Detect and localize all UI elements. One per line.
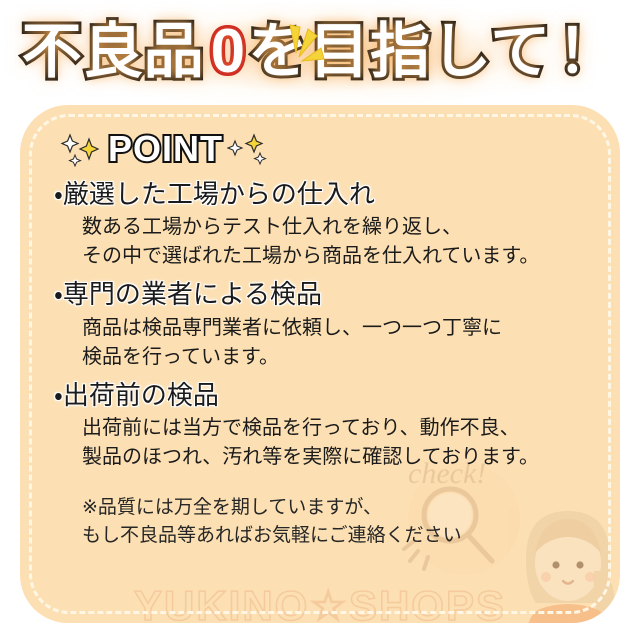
panel-content: POINT ・厳選した工場からの仕入れ 数ある工場からテスト仕入れを繰り返し、 … [20,105,620,551]
brand-watermark: YUKINO☆SHOPS [20,581,620,623]
body-line: 数ある工場からテスト仕入れを繰り返し、 [82,213,594,242]
body-line: 出荷前には当方で検品を行っており、動作不良、 [82,414,594,443]
sparkle-right-icon [227,131,271,167]
title-banner: 不良品 0 を目指して ！ [0,0,640,104]
section-heading: ・厳選した工場からの仕入れ [54,177,594,211]
section-heading: ・出荷前の検品 [54,378,594,412]
body-line: その中で選ばれた工場から商品を仕入れています。 [82,242,594,271]
title-part1: 不良品 [22,22,205,82]
title-zero-digit: 0 [211,21,246,83]
section-heading: ・専門の業者による検品 [54,277,594,311]
point-label: POINT [108,131,223,167]
section-body: 出荷前には当方で検品を行っており、動作不良、 製品のほつれ、汚れ等を実際に確認し… [82,414,594,472]
footnote-line: ※品質には万全を期していますが、 [82,494,594,523]
title-exclamation: ！ [557,22,618,82]
section-preshipment-inspection: ・出荷前の検品 出荷前には当方で検品を行っており、動作不良、 製品のほつれ、汚れ… [46,378,594,472]
title-line: 不良品 0 を目指して ！ [22,21,619,83]
sparkle-left-icon [60,131,104,167]
body-line: 製品のほつれ、汚れ等を実際に確認しております。 [82,443,594,472]
title-part2: を目指して [248,22,551,82]
body-line: 検品を行っています。 [82,343,594,372]
quality-footnote: ※品質には万全を期していますが、 もし不良品等あればお気軽にご連絡ください [82,494,594,551]
footnote-line: もし不良品等あればお気軽にご連絡ください [82,522,594,551]
section-body: 商品は検品専門業者に依頼し、一つ一つ丁寧に 検品を行っています。 [82,314,594,372]
section-sourcing: ・厳選した工場からの仕入れ 数ある工場からテスト仕入れを繰り返し、 その中で選ば… [46,177,594,271]
body-line: 商品は検品専門業者に依頼し、一つ一つ丁寧に [82,314,594,343]
section-professional-inspection: ・専門の業者による検品 商品は検品専門業者に依頼し、一つ一つ丁寧に 検品を行って… [46,277,594,371]
point-header-row: POINT [60,131,594,167]
point-panel: check! [20,105,620,623]
section-body: 数ある工場からテスト仕入れを繰り返し、 その中で選ばれた工場から商品を仕入れてい… [82,213,594,271]
